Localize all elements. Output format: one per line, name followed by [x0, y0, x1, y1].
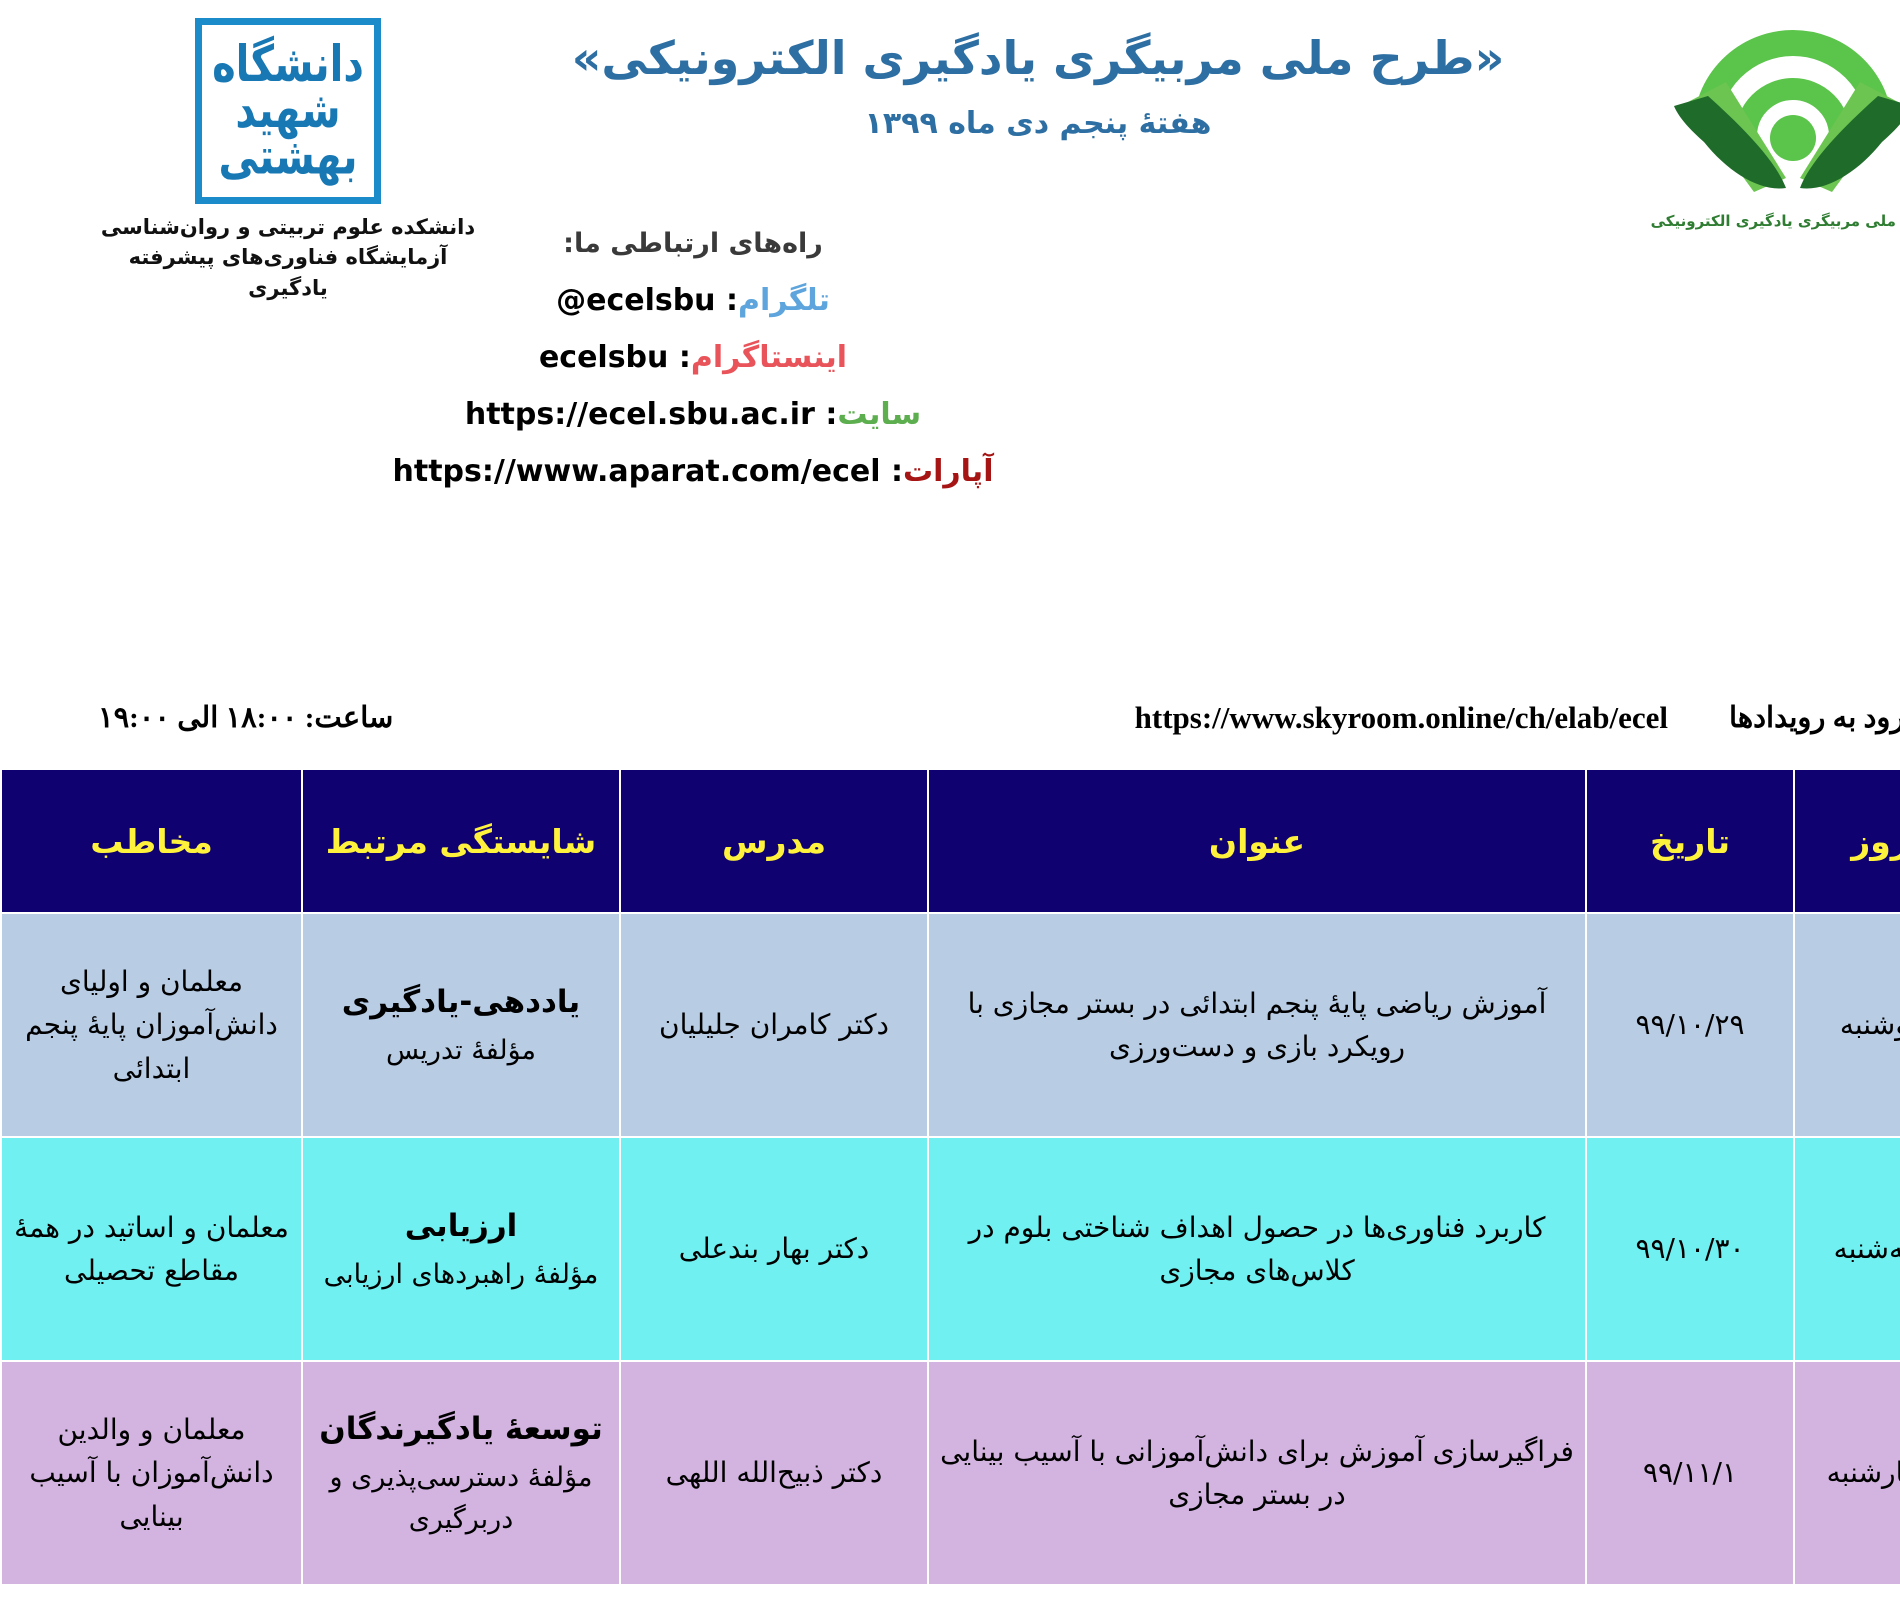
ecel-logo-caption: طرح ملی مربیگری یادگیری الکترونیکی	[1540, 212, 1870, 230]
entry-link-url[interactable]: https://www.skyroom.online/ch/elab/ecel	[1047, 700, 1580, 736]
table-header-row: روز تاریخ عنوان مدرس شایستگی مرتبط مخاطب	[0, 769, 1879, 913]
schedule-table: روز تاریخ عنوان مدرس شایستگی مرتبط مخاطب…	[0, 768, 1880, 1586]
cell-title: آموزش ریاضی پایهٔ پنجم ابتدائی در بستر م…	[840, 913, 1498, 1137]
cell-audience: معلمان و اساتید در همهٔ مقاطع تحصیلی	[0, 1137, 214, 1361]
table-row: چهارشنبه ۹۹/۱۱/۱ فراگیرسازی آموزش برای د…	[0, 1361, 1879, 1585]
sbu-logo: دانشگاه شهید بهشتی	[107, 18, 293, 204]
contact-colon-aparat: :	[793, 454, 815, 489]
contact-block: راه‌های ارتباطی ما: تلگرام: @ecelsbu این…	[0, 228, 1210, 511]
column-header-title: عنوان	[840, 769, 1498, 913]
cell-title: کاربرد فناوری‌ها در حصول اهداف شناختی بل…	[840, 1137, 1498, 1361]
competency-sub: مؤلفهٔ دسترسی‌پذیری و دربرگیری	[223, 1457, 523, 1541]
cell-competency: یاددهی-یادگیری مؤلفهٔ تدریس	[214, 913, 532, 1137]
contact-label-site: سایت	[749, 397, 833, 432]
contact-value-instagram[interactable]: ecelsbu	[451, 340, 580, 375]
competency-main: ارزیابی	[223, 1202, 523, 1250]
contact-colon-telegram: :	[628, 283, 650, 318]
session-time: ساعت: ۱۸:۰۰ الی ۱۹:۰۰	[10, 700, 305, 735]
schedule-table-wrapper: روز تاریخ عنوان مدرس شایستگی مرتبط مخاطب…	[22, 768, 1880, 1586]
contact-colon-instagram: :	[580, 340, 602, 375]
contact-label-aparat: آپارات	[815, 454, 906, 489]
cell-teacher: دکتر کامران جلیلیان	[532, 913, 840, 1137]
contact-row-instagram: اینستاگرام: ecelsbu	[0, 340, 1210, 375]
ecel-branding-block: طرح ملی مربیگری یادگیری الکترونیکی	[1540, 10, 1870, 230]
cell-competency: ارزیابی مؤلفهٔ راهبردهای ارزیابی	[214, 1137, 532, 1361]
contact-value-site[interactable]: https://ecel.sbu.ac.ir	[377, 397, 727, 432]
cell-day: دوشنبه	[1706, 913, 1879, 1137]
sbu-logo-calligraphy: دانشگاه شهید بهشتی	[117, 42, 283, 180]
entry-link-bar: لینک ورود به رویدادها https://www.skyroo…	[0, 700, 1900, 760]
page-subtitle: هفتهٔ پنجم دی ماه ۱۳۹۹	[420, 106, 1480, 141]
contact-label-telegram: تلگرام	[650, 283, 742, 318]
contact-value-aparat[interactable]: https://www.aparat.com/ecel	[305, 454, 793, 489]
entry-link-label: لینک ورود به رویدادها	[1641, 700, 1890, 735]
competency-main: توسعهٔ یادگیرندگان	[223, 1405, 523, 1453]
cell-date: ۹۹/۱۱/۱	[1498, 1361, 1706, 1585]
column-header-teacher: مدرس	[532, 769, 840, 913]
table-row: دوشنبه ۹۹/۱۰/۲۹ آموزش ریاضی پایهٔ پنجم ا…	[0, 913, 1879, 1137]
cell-teacher: دکتر ذبیح‌الله اللهی	[532, 1361, 840, 1585]
schedule-table-head: روز تاریخ عنوان مدرس شایستگی مرتبط مخاطب	[0, 769, 1879, 913]
cell-competency: توسعهٔ یادگیرندگان مؤلفهٔ دسترسی‌پذیری و…	[214, 1361, 532, 1585]
column-header-date: تاریخ	[1498, 769, 1706, 913]
ecel-logo	[1580, 10, 1830, 210]
cell-date: ۹۹/۱۰/۲۹	[1498, 913, 1706, 1137]
contact-label-instagram: اینستاگرام	[603, 340, 759, 375]
cell-day: سه‌شنبه	[1706, 1137, 1879, 1361]
column-header-audience: مخاطب	[0, 769, 214, 913]
competency-main: یاددهی-یادگیری	[223, 978, 523, 1026]
competency-sub: مؤلفهٔ راهبردهای ارزیابی	[223, 1254, 523, 1296]
contact-row-aparat: آپارات: https://www.aparat.com/ecel	[0, 454, 1210, 489]
cell-audience: معلمان و اولیای دانش‌آموزان پایهٔ پنجم ا…	[0, 913, 214, 1137]
cell-date: ۹۹/۱۰/۳۰	[1498, 1137, 1706, 1361]
contact-heading: راه‌های ارتباطی ما:	[0, 228, 1210, 259]
contact-value-telegram[interactable]: @ecelsbu	[468, 283, 627, 318]
contact-colon-site: :	[727, 397, 749, 432]
contact-row-site: سایت: https://ecel.sbu.ac.ir	[0, 397, 1210, 432]
wifi-center-dot-icon	[1682, 115, 1728, 161]
sbu-logo-inner-frame: دانشگاه شهید بهشتی	[114, 25, 286, 197]
cell-day: چهارشنبه	[1706, 1361, 1879, 1585]
title-block: «طرح ملی مربیگری یادگیری الکترونیکی» هفت…	[420, 20, 1480, 141]
table-row: سه‌شنبه ۹۹/۱۰/۳۰ کاربرد فناوری‌ها در حصو…	[0, 1137, 1879, 1361]
cell-audience: معلمان و والدین دانش‌آموزان با آسیب بینا…	[0, 1361, 214, 1585]
contact-row-telegram: تلگرام: @ecelsbu	[0, 283, 1210, 318]
schedule-table-body: دوشنبه ۹۹/۱۰/۲۹ آموزش ریاضی پایهٔ پنجم ا…	[0, 913, 1879, 1585]
ecel-logo-svg	[1580, 10, 1830, 210]
column-header-competency: شایستگی مرتبط	[214, 769, 532, 913]
cell-title: فراگیرسازی آموزش برای دانش‌آموزانی با آس…	[840, 1361, 1498, 1585]
cell-teacher: دکتر بهار بندعلی	[532, 1137, 840, 1361]
competency-sub: مؤلفهٔ تدریس	[223, 1030, 523, 1072]
page-title: «طرح ملی مربیگری یادگیری الکترونیکی»	[420, 30, 1480, 88]
column-header-day: روز	[1706, 769, 1879, 913]
